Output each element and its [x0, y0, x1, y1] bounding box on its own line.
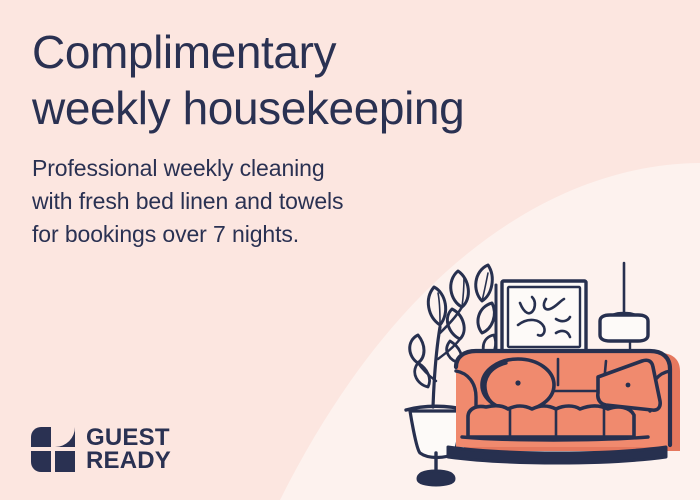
- sofa-icon: [448, 351, 680, 463]
- guest-ready-mark-icon: [31, 427, 75, 472]
- guest-ready-logo: GUEST READY: [31, 426, 171, 472]
- copy-block: Complimentary weekly housekeeping Profes…: [32, 24, 592, 251]
- promo-card: Complimentary weekly housekeeping Profes…: [0, 0, 700, 500]
- framed-artwork-icon: [496, 281, 586, 357]
- page-title: Complimentary weekly housekeeping: [32, 24, 592, 136]
- subtitle-text: Professional weekly cleaning with fresh …: [32, 152, 592, 251]
- living-room-illustration: [398, 255, 700, 500]
- mark-quadrant-bottom-right: [55, 451, 75, 472]
- pendant-lamp-icon: [600, 263, 648, 364]
- mark-quadrant-top-left: [31, 427, 51, 447]
- mark-quadrant-top-right: [55, 427, 75, 447]
- guest-ready-wordmark: GUEST READY: [86, 426, 171, 472]
- round-cushion-icon: [482, 359, 554, 411]
- mark-quadrant-bottom-left: [31, 451, 51, 472]
